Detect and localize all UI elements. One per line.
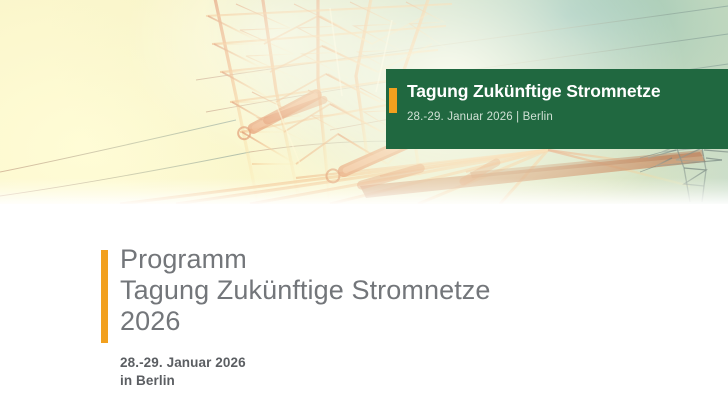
banner-accent-bar	[389, 88, 397, 113]
document-page: Tagung Zukünftige Stromnetze 28.-29. Jan…	[0, 0, 728, 410]
title-accent-bar	[101, 250, 108, 343]
page-subtitle: 28.-29. Januar 2026 in Berlin	[120, 354, 680, 390]
content-section: Programm Tagung Zukünftige Stromnetze 20…	[0, 204, 728, 410]
page-title: Programm Tagung Zukünftige Stromnetze 20…	[120, 244, 680, 337]
hero-image: Tagung Zukünftige Stromnetze 28.-29. Jan…	[0, 0, 728, 204]
page-title-line-2: Tagung Zukünftige Stromnetze	[120, 275, 680, 306]
page-subtitle-location: in Berlin	[120, 372, 680, 390]
page-title-line-3: 2026	[120, 306, 680, 337]
event-banner: Tagung Zukünftige Stromnetze 28.-29. Jan…	[386, 69, 728, 149]
banner-title: Tagung Zukünftige Stromnetze	[407, 81, 661, 102]
banner-subtitle: 28.-29. Januar 2026 | Berlin	[407, 111, 553, 123]
page-title-line-1: Programm	[120, 244, 680, 275]
page-subtitle-date: 28.-29. Januar 2026	[120, 354, 680, 372]
